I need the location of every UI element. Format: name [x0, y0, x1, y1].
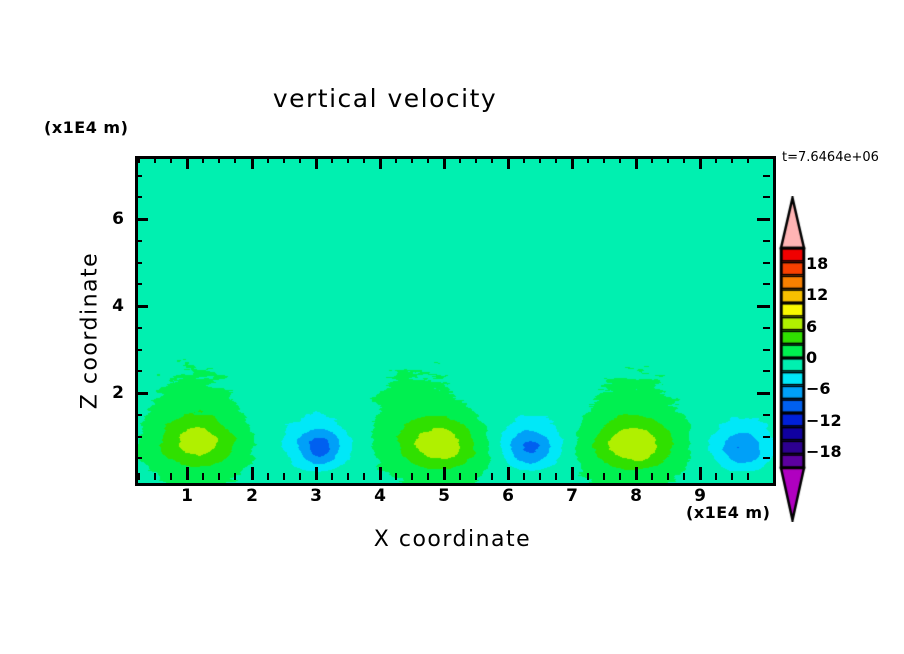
- x-tick-minor: [747, 473, 749, 480]
- y-tick-major: [135, 392, 148, 395]
- x-tick-minor: [234, 473, 236, 480]
- x-tick-minor: [459, 473, 461, 480]
- x-tick-major-top: [251, 156, 254, 169]
- y-tick-minor-right: [763, 327, 770, 329]
- x-tick-minor: [218, 473, 220, 480]
- x-tick-label: 3: [296, 486, 336, 506]
- x-tick-major-top: [571, 156, 574, 169]
- x-tick-minor: [395, 473, 397, 480]
- y-tick-major-right: [757, 392, 770, 395]
- x-tick-minor: [138, 473, 140, 480]
- y-tick-minor-right: [763, 370, 770, 372]
- x-tick-major-top: [315, 156, 318, 169]
- x-tick-major: [379, 467, 382, 480]
- y-tick-minor: [135, 327, 142, 329]
- y-tick-minor-right: [763, 240, 770, 242]
- y-tick-minor-right: [763, 457, 770, 459]
- x-tick-minor: [267, 473, 269, 480]
- x-tick-minor: [299, 473, 301, 480]
- y-tick-minor: [135, 370, 142, 372]
- x-tick-major-top: [699, 156, 702, 169]
- colorbar-tick-label: −12: [806, 413, 842, 429]
- x-tick-label: 7: [552, 486, 592, 506]
- x-tick-major-top: [507, 156, 510, 169]
- x-tick-minor-top: [363, 156, 365, 163]
- x-tick-minor-top: [539, 156, 541, 163]
- x-tick-minor: [651, 473, 653, 480]
- x-tick-minor: [603, 473, 605, 480]
- x-tick-minor: [202, 473, 204, 480]
- x-tick-minor: [619, 473, 621, 480]
- y-tick-minor: [135, 283, 142, 285]
- x-tick-minor-top: [411, 156, 413, 163]
- x-tick-minor: [731, 473, 733, 480]
- x-tick-label: 2: [232, 486, 272, 506]
- x-tick-minor: [667, 473, 669, 480]
- colorbar-tick-label: 6: [806, 319, 817, 335]
- x-tick-minor: [491, 473, 493, 480]
- x-tick-minor-top: [747, 156, 749, 163]
- y-tick-minor-right: [763, 175, 770, 177]
- x-tick-minor-top: [234, 156, 236, 163]
- x-tick-minor-top: [475, 156, 477, 163]
- colorbar-canvas: [770, 196, 830, 522]
- x-tick-minor-top: [603, 156, 605, 163]
- x-tick-minor-top: [587, 156, 589, 163]
- y-tick-minor: [135, 414, 142, 416]
- colorbar-tick-label: −18: [806, 444, 842, 460]
- colorbar: 181260−6−12−18: [770, 196, 830, 522]
- x-tick-minor-top: [218, 156, 220, 163]
- y-tick-minor: [135, 196, 142, 198]
- x-tick-label: 4: [360, 486, 400, 506]
- y-tick-major-right: [757, 218, 770, 221]
- x-axis-title: X coordinate: [135, 527, 770, 552]
- x-tick-minor-top: [651, 156, 653, 163]
- y-axis-unit-label: (x1E4 m): [44, 118, 128, 137]
- x-tick-minor: [363, 473, 365, 480]
- x-tick-minor-top: [283, 156, 285, 163]
- x-tick-minor: [170, 473, 172, 480]
- x-tick-minor-top: [347, 156, 349, 163]
- x-tick-minor: [347, 473, 349, 480]
- x-tick-major-top: [635, 156, 638, 169]
- x-tick-minor: [411, 473, 413, 480]
- y-tick-minor: [135, 262, 142, 264]
- x-tick-major: [251, 467, 254, 480]
- y-tick-minor: [135, 457, 142, 459]
- x-tick-major: [443, 467, 446, 480]
- x-tick-minor-top: [619, 156, 621, 163]
- x-tick-minor-top: [154, 156, 156, 163]
- y-tick-minor-right: [763, 349, 770, 351]
- x-tick-minor: [715, 473, 717, 480]
- x-tick-label: 5: [424, 486, 464, 506]
- x-tick-minor-top: [491, 156, 493, 163]
- x-axis-unit-label: (x1E4 m): [686, 503, 770, 522]
- y-tick-minor: [135, 240, 142, 242]
- colorbar-tick-label: 18: [806, 256, 828, 272]
- x-tick-minor-top: [555, 156, 557, 163]
- x-tick-minor-top: [138, 156, 140, 163]
- x-tick-major: [635, 467, 638, 480]
- x-tick-minor-top: [683, 156, 685, 163]
- x-tick-minor: [683, 473, 685, 480]
- x-tick-major: [699, 467, 702, 480]
- page-title: vertical velocity: [0, 84, 770, 113]
- x-tick-minor-top: [715, 156, 717, 163]
- x-tick-major: [315, 467, 318, 480]
- x-tick-minor: [539, 473, 541, 480]
- x-tick-minor-top: [299, 156, 301, 163]
- contour-field-canvas: [138, 159, 773, 483]
- plot-area: [135, 156, 776, 486]
- x-tick-label: 1: [167, 486, 207, 506]
- x-tick-minor-top: [395, 156, 397, 163]
- y-tick-minor: [135, 175, 142, 177]
- x-tick-minor: [427, 473, 429, 480]
- y-tick-minor-right: [763, 283, 770, 285]
- x-tick-minor-top: [731, 156, 733, 163]
- x-tick-minor: [523, 473, 525, 480]
- x-tick-minor: [331, 473, 333, 480]
- x-tick-minor-top: [170, 156, 172, 163]
- y-tick-minor-right: [763, 436, 770, 438]
- x-tick-minor: [283, 473, 285, 480]
- x-tick-major: [571, 467, 574, 480]
- y-tick-minor: [135, 349, 142, 351]
- x-tick-minor-top: [331, 156, 333, 163]
- timestamp-annotation: t=7.6464e+06: [782, 150, 879, 165]
- x-tick-minor-top: [267, 156, 269, 163]
- x-tick-minor: [475, 473, 477, 480]
- y-tick-minor-right: [763, 414, 770, 416]
- y-tick-minor-right: [763, 196, 770, 198]
- colorbar-tick-label: 0: [806, 350, 817, 366]
- y-tick-major: [135, 305, 148, 308]
- y-tick-major-right: [757, 305, 770, 308]
- x-tick-major-top: [443, 156, 446, 169]
- x-tick-label: 6: [488, 486, 528, 506]
- x-tick-minor-top: [667, 156, 669, 163]
- y-tick-minor: [135, 436, 142, 438]
- x-tick-label: 8: [616, 486, 656, 506]
- x-tick-minor-top: [427, 156, 429, 163]
- x-tick-minor-top: [202, 156, 204, 163]
- x-tick-minor: [555, 473, 557, 480]
- y-tick-major: [135, 218, 148, 221]
- x-tick-major: [507, 467, 510, 480]
- y-axis-title: Z coordinate: [78, 201, 103, 461]
- colorbar-tick-label: 12: [806, 287, 828, 303]
- x-tick-major: [186, 467, 189, 480]
- x-tick-minor-top: [459, 156, 461, 163]
- colorbar-tick-label: −6: [806, 381, 831, 397]
- x-tick-major-top: [379, 156, 382, 169]
- x-tick-minor-top: [523, 156, 525, 163]
- y-tick-minor-right: [763, 262, 770, 264]
- x-tick-minor: [154, 473, 156, 480]
- x-tick-minor: [587, 473, 589, 480]
- x-tick-major-top: [186, 156, 189, 169]
